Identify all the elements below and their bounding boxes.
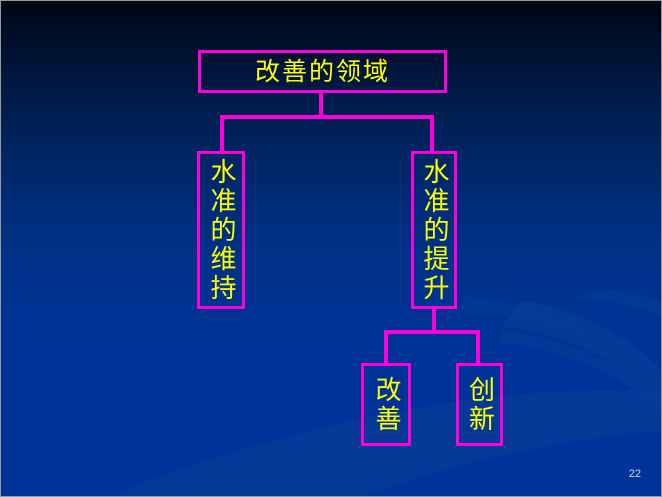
node-kaizen-label: 改善 — [373, 376, 399, 434]
connector-drop-to-innovate — [476, 330, 480, 364]
connector-drop-to-improve — [430, 115, 434, 152]
presentation-slide: 改善的领域 水准的维持 水准的提升 改善 创新 22 — [0, 0, 662, 497]
connector-drop-to-maintain — [220, 115, 224, 152]
node-innovation: 创新 — [456, 363, 503, 446]
node-level-improvement: 水准的提升 — [411, 151, 457, 309]
connector-title-stub — [319, 93, 323, 115]
node-level-improvement-label: 水准的提升 — [421, 158, 447, 303]
connector-drop-to-kaizen — [384, 330, 388, 364]
node-improvement-areas-label: 改善的领域 — [255, 59, 390, 84]
connector-top-horizontal-bar — [220, 115, 434, 119]
node-improvement-areas: 改善的领域 — [198, 50, 447, 93]
connector-improve-stub — [432, 309, 436, 330]
slide-page-number: 22 — [629, 468, 641, 480]
node-innovation-label: 创新 — [467, 376, 493, 434]
node-level-maintenance: 水准的维持 — [197, 151, 245, 309]
node-level-maintenance-label: 水准的维持 — [208, 158, 234, 303]
node-kaizen: 改善 — [361, 363, 411, 446]
connector-bottom-horizontal-bar — [384, 330, 480, 334]
improvement-areas-tree-diagram: 改善的领域 水准的维持 水准的提升 改善 创新 — [1, 1, 661, 496]
